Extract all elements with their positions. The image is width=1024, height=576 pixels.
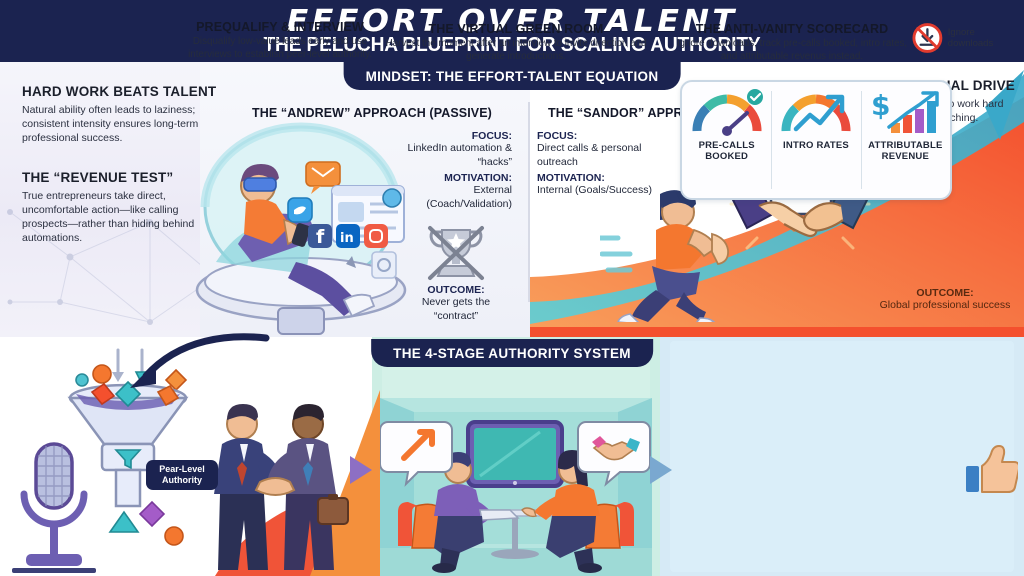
revenue-test-title: THE “REVENUE TEST”: [22, 170, 202, 187]
global-outcome-value: Global professional success: [870, 299, 1020, 313]
sandor-focus-value: Direct calls & personal outreach: [537, 142, 667, 169]
andrew-outcome-value: Never gets the “contract”: [400, 296, 512, 323]
infographic-poster: EFFORT OVER TALENT THE PELUCHA BLUEPRINT…: [0, 0, 1024, 576]
andrew-motivation: MOTIVATION: External (Coach/Validation): [392, 172, 512, 211]
metric-pre-calls-label: PRE-CALLS BOOKED: [682, 140, 771, 162]
sandor-motivation-label: MOTIVATION:: [537, 172, 667, 184]
business-handshake-illustration: [200, 400, 350, 576]
andrew-outcome-label: OUTCOME:: [400, 284, 512, 296]
sandor-focus: FOCUS: Direct calls & personal outreach: [537, 130, 667, 169]
scorecard-title: THE ANTI-VANITY SCORECARD: [672, 22, 912, 36]
hard-work-block: HARD WORK BEATS TALENT Natural ability o…: [22, 84, 222, 145]
svg-text:f: f: [316, 226, 325, 248]
scorecard-backdrop: [670, 341, 1014, 572]
thumbs-up-icon: [964, 442, 1018, 498]
andrew-approach-heading: THE “ANDREW” APPROACH (PASSIVE): [252, 106, 492, 120]
flow-arrow-to-funnel: [120, 332, 270, 392]
vr-pod-illustration: f in: [186, 112, 416, 337]
scorecard-heading-block: THE ANTI-VANITY SCORECARD Ignore downloa…: [672, 22, 912, 64]
scorecard-body: Ignore downloads; track pre-calls booked…: [672, 38, 912, 64]
virtual-green-room-illustration: [380, 398, 652, 576]
andrew-motivation-label: MOTIVATION:: [392, 172, 512, 184]
crossed-trophy-icon: [422, 222, 490, 284]
metric-intro-rates[interactable]: INTRO RATES: [771, 82, 860, 198]
stages-banner: THE 4-STAGE AUTHORITY SYSTEM: [371, 339, 653, 367]
gauge-trend-icon: [778, 89, 854, 137]
anti-vanity-scorecard-card: PRE-CALLS BOOKED INTRO RATES $: [680, 80, 952, 200]
prequalify-heading-block: PREQUALIFY & INTERVIEW Disqualify low-va…: [185, 20, 375, 62]
metric-attributable-revenue-label: ATTRIBUTABLE REVENUE: [861, 140, 950, 162]
sandor-motivation: MOTIVATION: Internal (Goals/Success): [537, 172, 667, 198]
svg-text:$: $: [871, 89, 890, 122]
hard-work-body: Natural ability often leads to laziness;…: [22, 103, 222, 146]
global-outcome: OUTCOME: Global professional success: [870, 287, 1020, 313]
dollar-bars-icon: $: [867, 89, 943, 137]
green-room-title: THE VIRTUAL GREEN ROOM: [378, 22, 654, 36]
flow-arrow-to-scorecard: [650, 450, 684, 490]
prequalify-title: PREQUALIFY & INTERVIEW: [185, 20, 375, 34]
green-room-heading-block: THE VIRTUAL GREEN ROOM Harvest the momen…: [378, 22, 654, 64]
andrew-motivation-value: External (Coach/Validation): [392, 184, 512, 211]
andrew-outcome: OUTCOME: Never gets the “contract”: [400, 284, 512, 323]
flow-arrow-to-green-room: [350, 450, 384, 490]
green-room-body: Harvest the moment after an interview to…: [378, 38, 654, 64]
sandor-focus-label: FOCUS:: [537, 130, 667, 142]
metric-pre-calls-booked[interactable]: PRE-CALLS BOOKED: [682, 82, 771, 198]
metric-attributable-revenue[interactable]: $ ATTRIBUTABLE REVENUE: [861, 82, 950, 198]
gauge-icon: [689, 89, 765, 137]
andrew-focus-value: LinkedIn automation & “hacks”: [400, 142, 512, 169]
andrew-focus-label: FOCUS:: [400, 130, 512, 142]
mindset-banner: MINDSET: THE EFFORT-TALENT EQUATION: [344, 62, 681, 90]
revenue-test-body: True entrepreneurs take direct, uncomfor…: [22, 189, 202, 246]
no-download-icon: [912, 22, 943, 54]
red-accent-strip: [530, 327, 1024, 337]
ignore-downloads-label: Ignore downloads: [948, 27, 1020, 50]
sandor-motivation-value: Internal (Goals/Success): [537, 184, 667, 198]
ignore-downloads-note: Ignore downloads: [912, 22, 1020, 54]
svg-text:in: in: [340, 231, 354, 246]
metric-intro-rates-label: INTRO RATES: [783, 140, 849, 151]
microphone-icon: [8, 438, 100, 576]
prequalify-body: Disqualify low-value leads early and use…: [185, 36, 375, 62]
revenue-test-block: THE “REVENUE TEST” True entrepreneurs ta…: [22, 170, 202, 246]
global-outcome-label: OUTCOME:: [870, 287, 1020, 299]
andrew-focus: FOCUS: LinkedIn automation & “hacks”: [400, 130, 512, 169]
hard-work-title: HARD WORK BEATS TALENT: [22, 84, 222, 101]
column-divider: [528, 102, 530, 302]
peer-level-authority-tag: Pear-Level Authority: [146, 460, 218, 490]
